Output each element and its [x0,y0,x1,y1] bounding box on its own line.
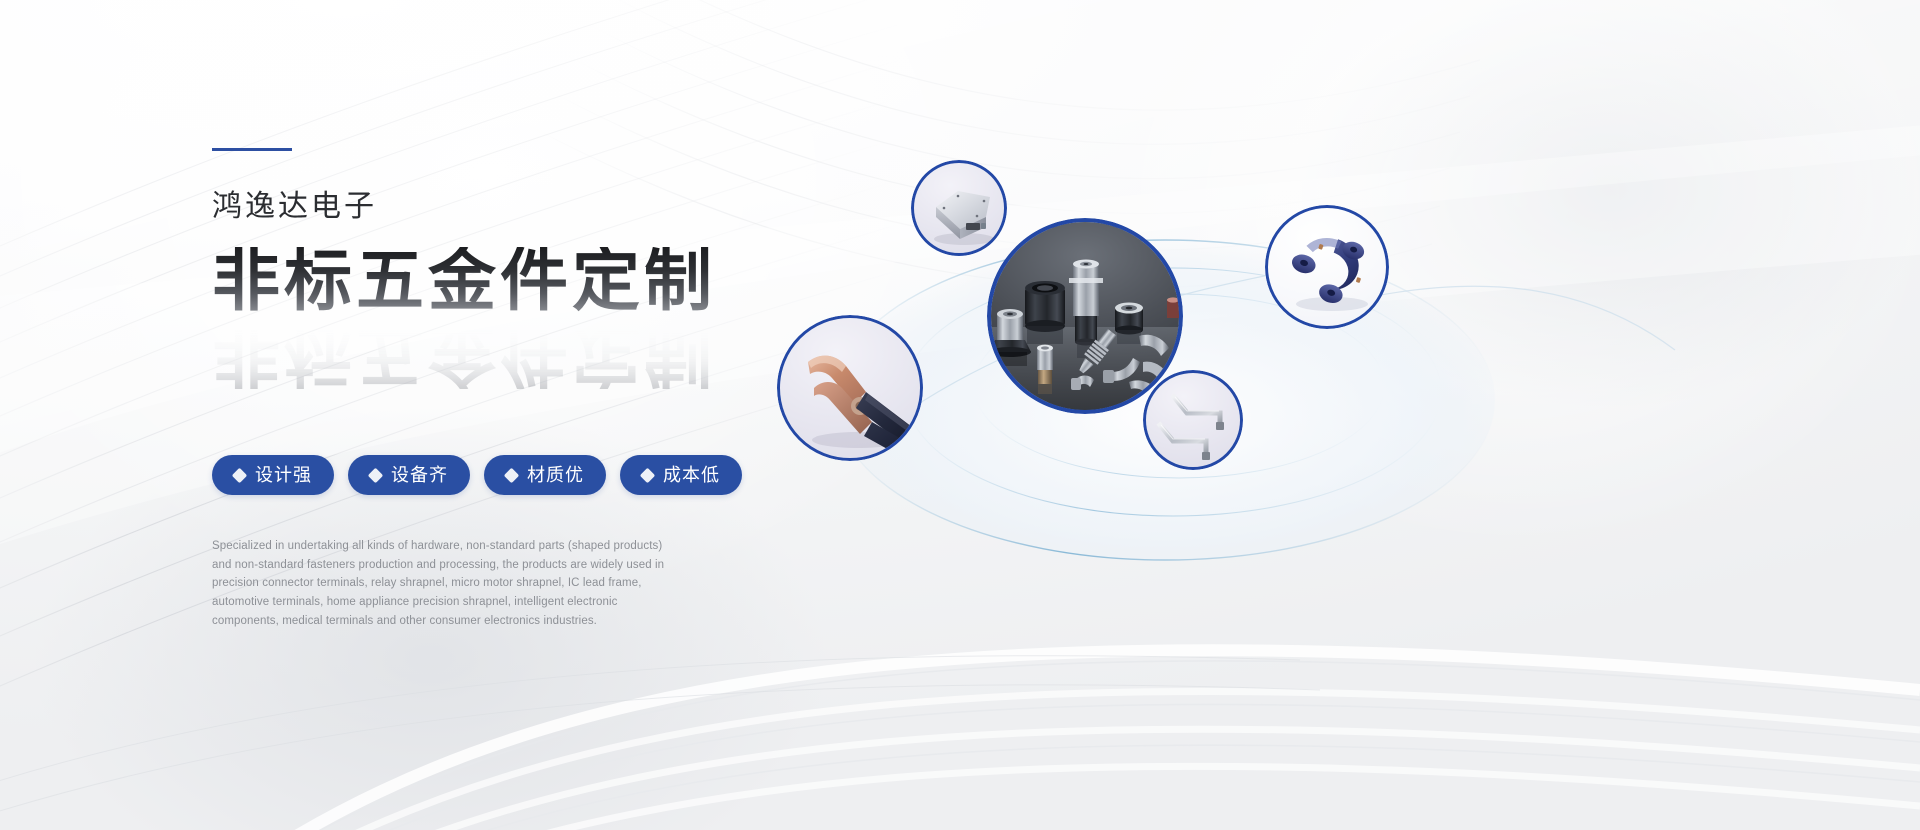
bubble-image [1146,373,1240,467]
diamond-icon [504,467,520,483]
hero-banner: 鸿逸达电子 非标五金件定制 非标五金件定制 设计强 设备齐 材质优 成本低 [0,0,1920,830]
feature-badge-label: 设备齐 [391,466,448,484]
bubble-image [1268,208,1386,326]
headline-reflection: 非标五金件定制 [212,321,716,389]
product-artwork [735,150,1785,670]
battery-clamp-icon [780,318,920,458]
bubble-image [780,318,920,458]
feature-badge-label: 材质优 [527,466,584,484]
bent-wire-bracket-icon [1146,373,1240,467]
feature-badge-label: 成本低 [663,466,720,484]
diamond-icon [232,467,248,483]
bubble-retaining-e-clip[interactable] [1265,205,1389,329]
feature-badge-label: 设计强 [255,466,312,484]
accent-rule [212,148,292,151]
bubble-bent-wire-brackets[interactable] [1143,370,1243,470]
feature-badge-cost[interactable]: 成本低 [620,455,742,495]
diamond-icon [640,467,656,483]
description-text: Specialized in undertaking all kinds of … [212,537,682,630]
diamond-icon [368,467,384,483]
bubble-battery-clamp[interactable] [777,315,923,461]
retaining-e-clip-icon [1268,208,1386,326]
feature-badge-equipment[interactable]: 设备齐 [348,455,470,495]
feature-badge-material[interactable]: 材质优 [484,455,606,495]
feature-badge-design[interactable]: 设计强 [212,455,334,495]
